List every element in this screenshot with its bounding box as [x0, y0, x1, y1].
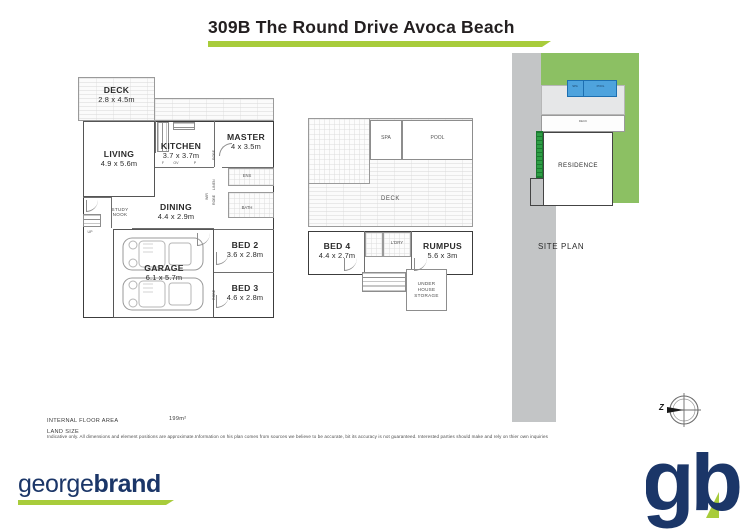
- appliance-pantry: P: [190, 161, 200, 165]
- label-spa: SPA: [370, 136, 402, 142]
- lower-stairs: [362, 272, 406, 292]
- logo-text-bold: brand: [93, 470, 160, 498]
- stairs-up: [83, 214, 101, 227]
- compass-rose-icon: [658, 388, 706, 436]
- room-label-garage: GARAGE 6.1 x 5.7m: [122, 264, 206, 282]
- wall-master-left: [214, 121, 215, 167]
- label-robe-bed2: ROBE: [212, 195, 216, 205]
- label-stairs-up: UP: [85, 230, 95, 234]
- label-lower-deck: DECK: [308, 196, 473, 203]
- title-underline-bar: [208, 41, 542, 47]
- room-label-laundry: L'DRY: [383, 241, 411, 246]
- page-title: 309B The Round Drive Avoca Beach: [208, 17, 515, 38]
- floorplan-page: 309B The Round Drive Avoca Beach DECK 2.…: [0, 0, 750, 530]
- lower-deck-tile-zone: [308, 118, 370, 184]
- room-label-bath: BATH: [234, 206, 260, 211]
- label-pool: POOL: [402, 136, 473, 142]
- disclaimer-text: Indicative only. All dimensions and elem…: [47, 434, 707, 440]
- kitchen-bench-top: [173, 122, 195, 130]
- logo-text-light: george: [18, 470, 93, 498]
- label-linen: LINEN: [212, 179, 216, 190]
- deck-hatch-extension: [155, 98, 274, 121]
- room-label-ensuite: ENS: [236, 174, 258, 179]
- logo-underline-bar: [18, 500, 166, 505]
- room-label-deck: DECK 2.8 x 4.5m: [78, 86, 155, 104]
- appliance-oven: OV: [170, 161, 182, 165]
- gb-monogram-logo: gb: [646, 452, 750, 530]
- site-label-residence: RESIDENCE: [543, 163, 613, 170]
- wall-study-top: [83, 197, 112, 198]
- george-brand-logo: georgebrand: [18, 470, 161, 499]
- internal-floor-area-label: INTERNAL FLOOR AREA: [47, 416, 118, 427]
- internal-floor-area-value: 199m²: [169, 416, 186, 422]
- wall-bed2-top: [214, 229, 274, 230]
- room-label-kitchen: KITCHEN 3.7 x 3.7m: [150, 142, 212, 160]
- site-driveway-apron: [530, 178, 544, 206]
- room-label-study-nook: STUDY NOOK: [104, 207, 136, 217]
- site-pool-divider: [583, 80, 584, 97]
- site-label-pool: POOL: [584, 85, 617, 88]
- wall-bed2-bottom: [214, 272, 274, 273]
- appliance-fridge: F: [158, 161, 168, 165]
- site-hedge: [536, 131, 543, 178]
- label-robe-master: ROBE: [212, 150, 216, 160]
- room-label-living: LIVING 4.9 x 5.6m: [83, 150, 155, 168]
- compass-north-letter: Z: [659, 403, 664, 412]
- room-label-dining: DINING 4.4 x 2.9m: [140, 203, 212, 221]
- room-label-under-house-storage: UNDER HOUSE STORAGE: [406, 281, 447, 300]
- site-label-deck: DECK: [541, 120, 625, 123]
- site-pool: [567, 80, 617, 97]
- site-deck: [541, 115, 625, 132]
- gb-monogram-text: gb: [646, 452, 739, 524]
- site-label-spa: SPA: [567, 85, 583, 88]
- bathroom-tile-zone: [365, 232, 383, 257]
- site-plan-title: SITE PLAN: [538, 242, 584, 251]
- wall-kitchen-bottom: [155, 167, 214, 168]
- label-wir: WIR: [205, 193, 209, 200]
